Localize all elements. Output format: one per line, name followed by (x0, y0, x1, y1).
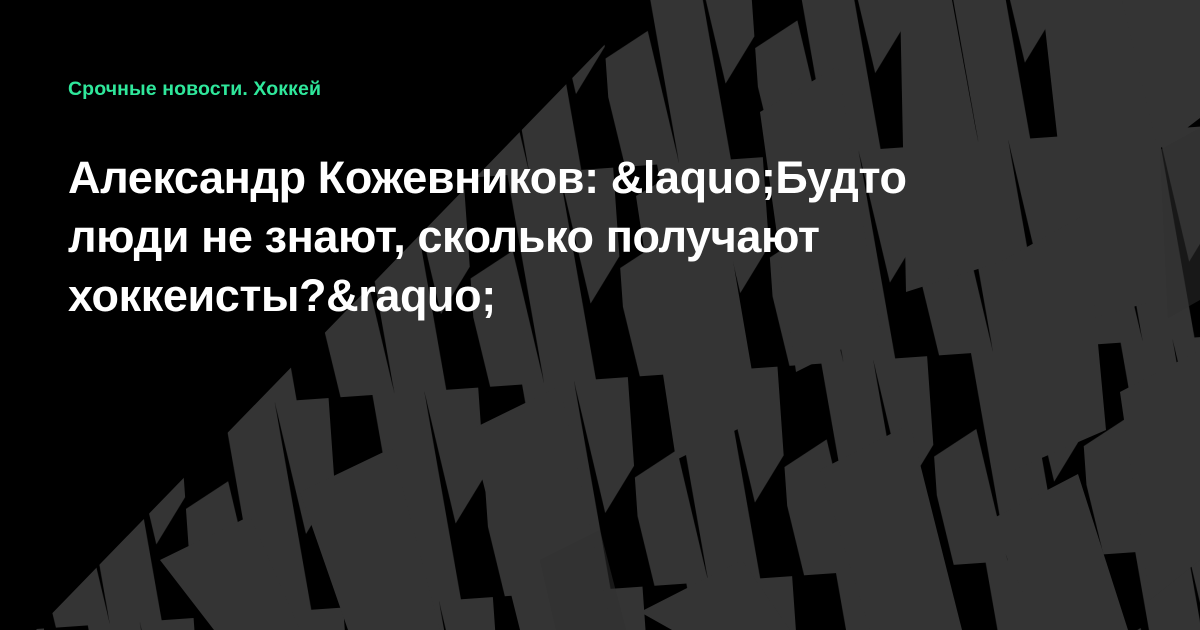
kicker-label: Срочные новости. Хоккей (68, 76, 1132, 102)
card-content: Срочные новости. Хоккей Александр Кожевн… (0, 0, 1200, 630)
page-title: Александр Кожевников: &laquo;Будто люди … (68, 148, 1028, 325)
headline-line-1: Александр Кожевников: &laquo;Будто (68, 148, 1028, 207)
headline-line-2: люди не знают, сколько получают (68, 207, 1028, 266)
headline-line-3: хоккеисты?&raquo; (68, 266, 1028, 325)
news-share-card: Срочные новости. Хоккей Александр Кожевн… (0, 0, 1200, 630)
